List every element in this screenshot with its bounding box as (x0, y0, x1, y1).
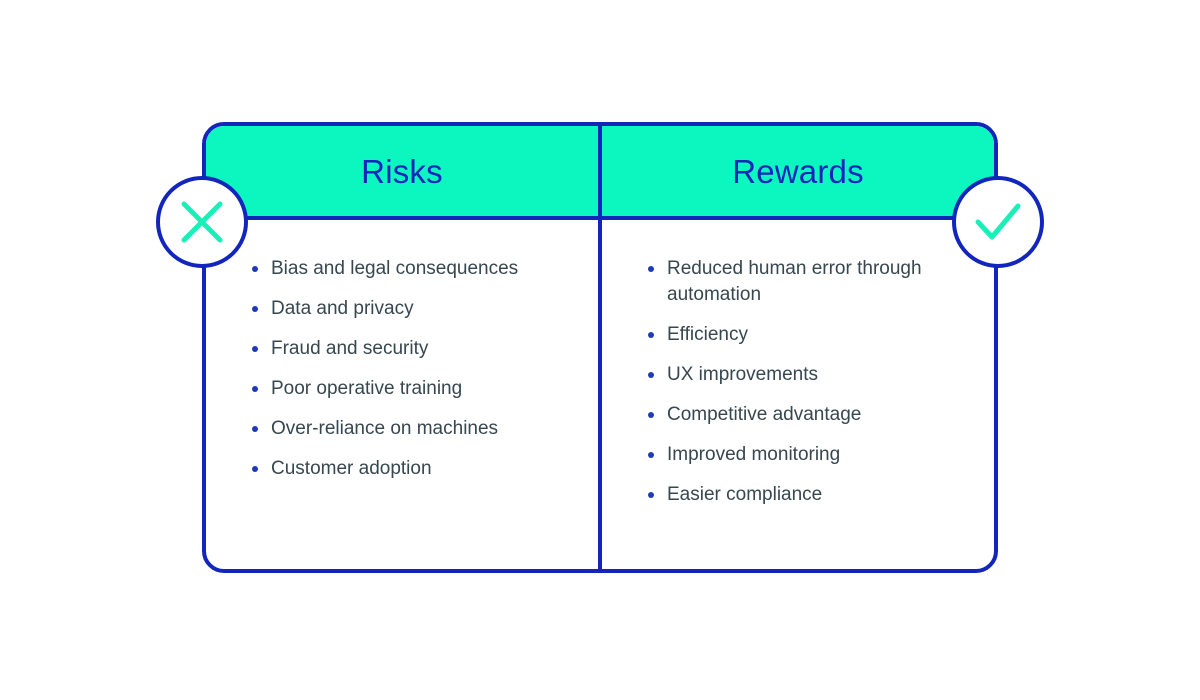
bullet-dot-icon (648, 332, 654, 338)
cross-icon (180, 200, 224, 244)
badge-rewards (952, 176, 1044, 268)
column-title-risks: Risks (361, 155, 443, 188)
list-item: UX improvements (648, 362, 927, 388)
list-item-label: Bias and legal consequences (271, 258, 518, 279)
column-body-risks: Bias and legal consequences Data and pri… (206, 220, 598, 569)
bullet-dot-icon (648, 492, 654, 498)
list-item: Bias and legal consequences (252, 256, 531, 282)
bullet-list-rewards: Reduced human error through automation E… (648, 256, 968, 508)
column-body-rewards: Reduced human error through automation E… (602, 220, 994, 569)
column-rewards: Rewards Reduced human error through auto… (602, 126, 994, 569)
bullet-dot-icon (252, 346, 258, 352)
bullet-list-risks: Bias and legal consequences Data and pri… (252, 256, 572, 482)
bullet-dot-icon (252, 386, 258, 392)
comparison-graphic: Risks Bias and legal consequences Data a… (0, 0, 1200, 700)
list-item: Easier compliance (648, 482, 927, 508)
bullet-dot-icon (648, 266, 654, 272)
list-item: Improved monitoring (648, 442, 927, 468)
bullet-dot-icon (252, 466, 258, 472)
list-item-label: Reduced human error through automation (667, 258, 922, 305)
column-risks: Risks Bias and legal consequences Data a… (206, 126, 602, 569)
list-item-label: UX improvements (667, 364, 818, 385)
list-item: Poor operative training (252, 376, 531, 402)
list-item-label: Over-reliance on machines (271, 418, 498, 439)
list-item: Customer adoption (252, 456, 531, 482)
bullet-dot-icon (648, 412, 654, 418)
list-item-label: Data and privacy (271, 298, 414, 319)
bullet-dot-icon (648, 372, 654, 378)
list-item-label: Competitive advantage (667, 404, 861, 425)
risks-rewards-card: Risks Bias and legal consequences Data a… (202, 122, 998, 573)
list-item: Fraud and security (252, 336, 531, 362)
list-item-label: Fraud and security (271, 338, 428, 359)
column-header-risks: Risks (206, 126, 598, 220)
bullet-dot-icon (252, 426, 258, 432)
bullet-dot-icon (648, 452, 654, 458)
bullet-dot-icon (252, 306, 258, 312)
list-item: Reduced human error through automation (648, 256, 927, 308)
column-header-rewards: Rewards (602, 126, 994, 220)
check-icon (974, 200, 1022, 244)
list-item-label: Improved monitoring (667, 444, 840, 465)
column-title-rewards: Rewards (732, 155, 864, 188)
badge-risks (156, 176, 248, 268)
bullet-dot-icon (252, 266, 258, 272)
list-item-label: Efficiency (667, 324, 748, 345)
list-item-label: Easier compliance (667, 484, 822, 505)
list-item: Competitive advantage (648, 402, 927, 428)
list-item-label: Customer adoption (271, 458, 432, 479)
list-item: Data and privacy (252, 296, 531, 322)
list-item-label: Poor operative training (271, 378, 462, 399)
list-item: Efficiency (648, 322, 927, 348)
list-item: Over-reliance on machines (252, 416, 531, 442)
